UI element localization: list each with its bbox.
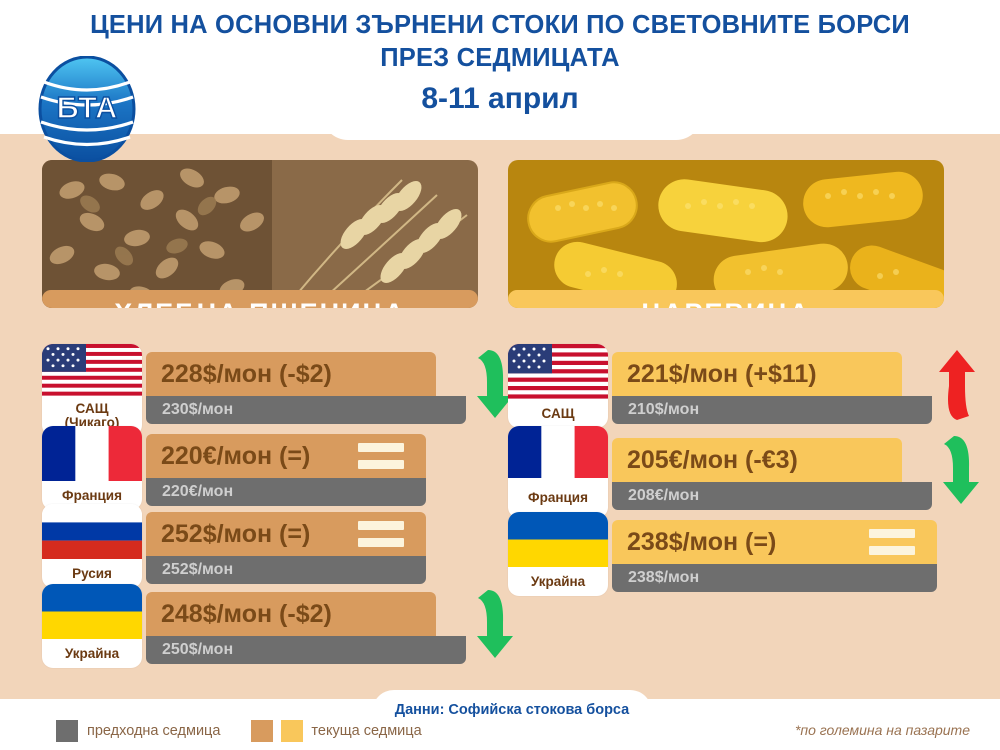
legend-current-group: текуща седмица [251, 720, 421, 742]
price-bars: 228$/мон (-$2) 230$/мон [146, 352, 466, 424]
flag-france-icon [508, 426, 608, 478]
current-price-bar: 248$/мон (-$2) [146, 592, 436, 636]
country-name: Русия [72, 567, 112, 581]
market-size-note: *по големина на пазарите [795, 722, 970, 738]
flag-ukraine-icon [508, 512, 608, 567]
equals-icon [358, 521, 404, 547]
table-row[interactable]: Франция 220€/мон (=) 220€/мон [42, 422, 492, 500]
arrow-up-icon [936, 346, 982, 422]
country-label: Украйна [42, 639, 142, 668]
flag-france-icon [42, 426, 142, 481]
current-price: 205€/мон (-€3) [612, 446, 798, 475]
previous-price: 238$/мон [612, 569, 699, 587]
commodity-name-wheat: ХЛЕБНА ПШЕНИЦА [114, 298, 406, 309]
price-rows-corn: САЩ 221$/мон (+$11) 210$/мон [508, 344, 958, 578]
arrow-down-icon [936, 432, 982, 508]
previous-price: 220€/мон [146, 483, 233, 501]
country-badge-usa-corn: САЩ [508, 344, 608, 428]
country-badge-usa-wheat: САЩ (Чикаго) [42, 344, 142, 436]
previous-price-bar: 230$/мон [146, 396, 466, 424]
flag-usa-icon [42, 344, 142, 396]
commodity-banner-wheat: ХЛЕБНА ПШЕНИЦА [42, 290, 478, 308]
previous-price: 230$/мон [146, 401, 233, 419]
page-title-line2: ПРЕЗ СЕДМИЦАТА [0, 43, 1000, 74]
price-rows-wheat: САЩ (Чикаго) 228$/мон (-$2) 230$/мон [42, 344, 492, 656]
equals-icon [869, 529, 915, 555]
country-badge-france-wheat: Франция [42, 426, 142, 510]
current-price: 221$/мон (+$11) [612, 360, 817, 389]
legend-swatch-current-corn [281, 720, 303, 742]
commodity-card-corn: ЦАРЕВИЦА [508, 160, 944, 308]
commodity-banner-corn: ЦАРЕВИЦА [508, 290, 944, 308]
current-price-bar: 252$/мон (=) [146, 512, 426, 556]
table-row[interactable]: Украйна 248$/мон (-$2) 250$/мон [42, 578, 492, 656]
country-name: Франция [62, 489, 122, 503]
current-price: 252$/мон (=) [146, 520, 310, 549]
legend-label-current: текуща седмица [311, 723, 421, 739]
table-row[interactable]: Франция 205€/мон (-€3) 208€/мон [508, 422, 958, 500]
previous-price: 210$/мон [612, 401, 699, 419]
current-price-bar: 228$/мон (-$2) [146, 352, 436, 396]
commodity-name-corn: ЦАРЕВИЦА [641, 298, 810, 309]
flag-ukraine-icon [42, 584, 142, 639]
country-badge-ukraine-corn: Украйна [508, 512, 608, 596]
country-badge-france-corn: Франция [508, 426, 608, 518]
price-bars: 248$/мон (-$2) 250$/мон [146, 592, 466, 664]
previous-price-bar: 238$/мон [612, 564, 937, 592]
equals-icon [358, 443, 404, 469]
price-bars: 220€/мон (=) 220€/мон [146, 434, 426, 506]
infographic-root: ЦЕНИ НА ОСНОВНИ ЗЪРНЕНИ СТОКИ ПО СВЕТОВН… [0, 0, 1000, 750]
commodity-card-wheat: ХЛЕБНА ПШЕНИЦА [42, 160, 478, 308]
country-badge-russia-wheat: Русия [42, 504, 142, 588]
country-name: САЩ [76, 402, 109, 416]
logo-text: БТА [57, 90, 118, 125]
page-title-block: ЦЕНИ НА ОСНОВНИ ЗЪРНЕНИ СТОКИ ПО СВЕТОВН… [0, 10, 1000, 116]
current-price: 248$/мон (-$2) [146, 600, 332, 629]
data-source: Данни: Софийска стокова борса [395, 702, 630, 718]
legend-swatch-previous [56, 720, 78, 742]
country-badge-ukraine-wheat: Украйна [42, 584, 142, 668]
price-bars: 252$/мон (=) 252$/мон [146, 512, 426, 584]
table-row[interactable]: САЩ 221$/мон (+$11) 210$/мон [508, 344, 958, 422]
country-label: САЩ [508, 399, 608, 428]
date-range: 8-11 април [0, 82, 1000, 116]
legend-swatch-current-wheat [251, 720, 273, 742]
previous-price-bar: 210$/мон [612, 396, 932, 424]
current-price-bar: 238$/мон (=) [612, 520, 937, 564]
previous-price: 252$/мон [146, 561, 233, 579]
table-row[interactable]: Русия 252$/мон (=) 252$/мон [42, 500, 492, 578]
current-price: 228$/мон (-$2) [146, 360, 332, 389]
arrow-down-icon [470, 586, 516, 662]
page-title-line1: ЦЕНИ НА ОСНОВНИ ЗЪРНЕНИ СТОКИ ПО СВЕТОВН… [0, 10, 1000, 41]
table-row[interactable]: Украйна 238$/мон (=) 238$/мон [508, 500, 958, 578]
country-name: САЩ [542, 407, 575, 421]
previous-price: 250$/мон [146, 641, 233, 659]
wheat-grains-photo: ХЛЕБНА ПШЕНИЦА [42, 160, 478, 308]
current-price-bar: 221$/мон (+$11) [612, 352, 902, 396]
legend-label-previous: предходна седмица [87, 723, 220, 739]
flag-usa-icon [508, 344, 608, 399]
country-name: Франция [528, 491, 588, 505]
bta-globe-logo: БТА [28, 56, 146, 162]
country-name: Украйна [531, 575, 585, 589]
country-name: Украйна [65, 647, 119, 661]
current-price-bar: 205€/мон (-€3) [612, 438, 902, 482]
table-row[interactable]: САЩ (Чикаго) 228$/мон (-$2) 230$/мон [42, 344, 492, 422]
flag-russia-icon [42, 504, 142, 559]
previous-price-bar: 250$/мон [146, 636, 466, 664]
price-bars: 238$/мон (=) 238$/мон [612, 520, 937, 592]
current-price: 220€/мон (=) [146, 442, 310, 471]
current-price-bar: 220€/мон (=) [146, 434, 426, 478]
price-bars: 221$/мон (+$11) 210$/мон [612, 352, 932, 424]
corn-cobs-photo: ЦАРЕВИЦА [508, 160, 944, 308]
current-price: 238$/мон (=) [612, 528, 776, 557]
legend: предходна седмица текуща седмица [56, 720, 422, 742]
country-label: Украйна [508, 567, 608, 596]
